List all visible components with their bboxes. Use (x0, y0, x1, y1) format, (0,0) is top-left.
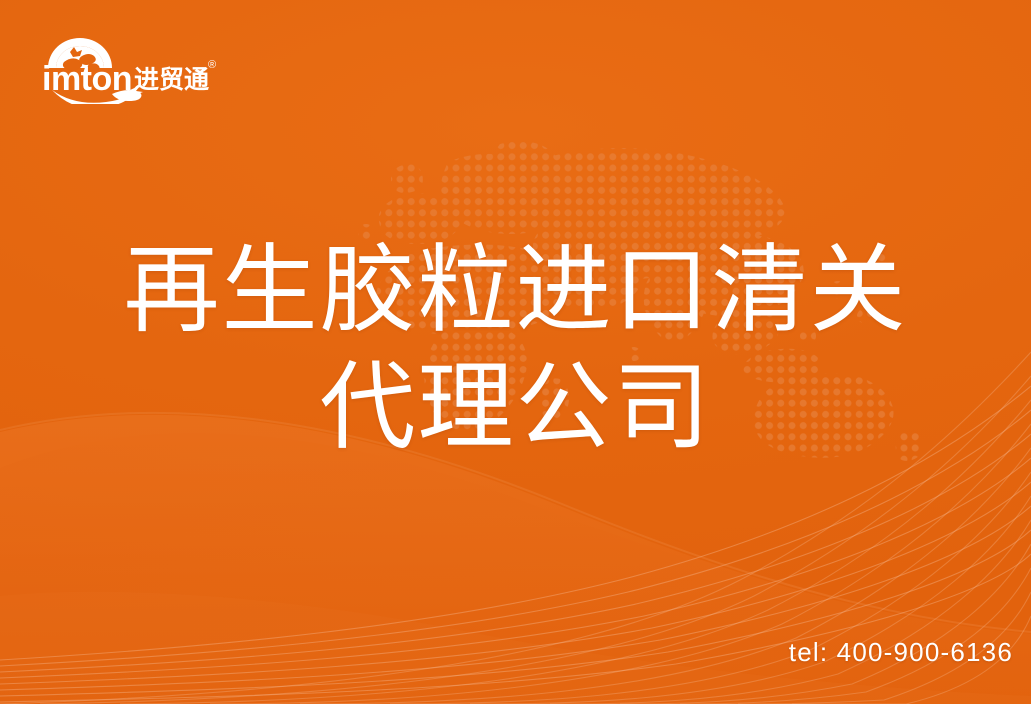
logo-chinese: 进贸通 (134, 66, 209, 94)
registered-trademark-icon: ® (208, 59, 216, 71)
poster-canvas: imton 进贸通 ® 再生胶粒进口清关 代理公司 tel: 400-900-6… (0, 0, 1031, 704)
contact-phone[interactable]: tel: 400-900-6136 (789, 637, 1013, 668)
headline-line-1: 再生胶粒进口清关 (0, 232, 1031, 349)
headline-line-2: 代理公司 (0, 349, 1031, 466)
brand-logo[interactable]: imton 进贸通 ® (38, 28, 224, 104)
page-title: 再生胶粒进口清关 代理公司 (0, 232, 1031, 466)
